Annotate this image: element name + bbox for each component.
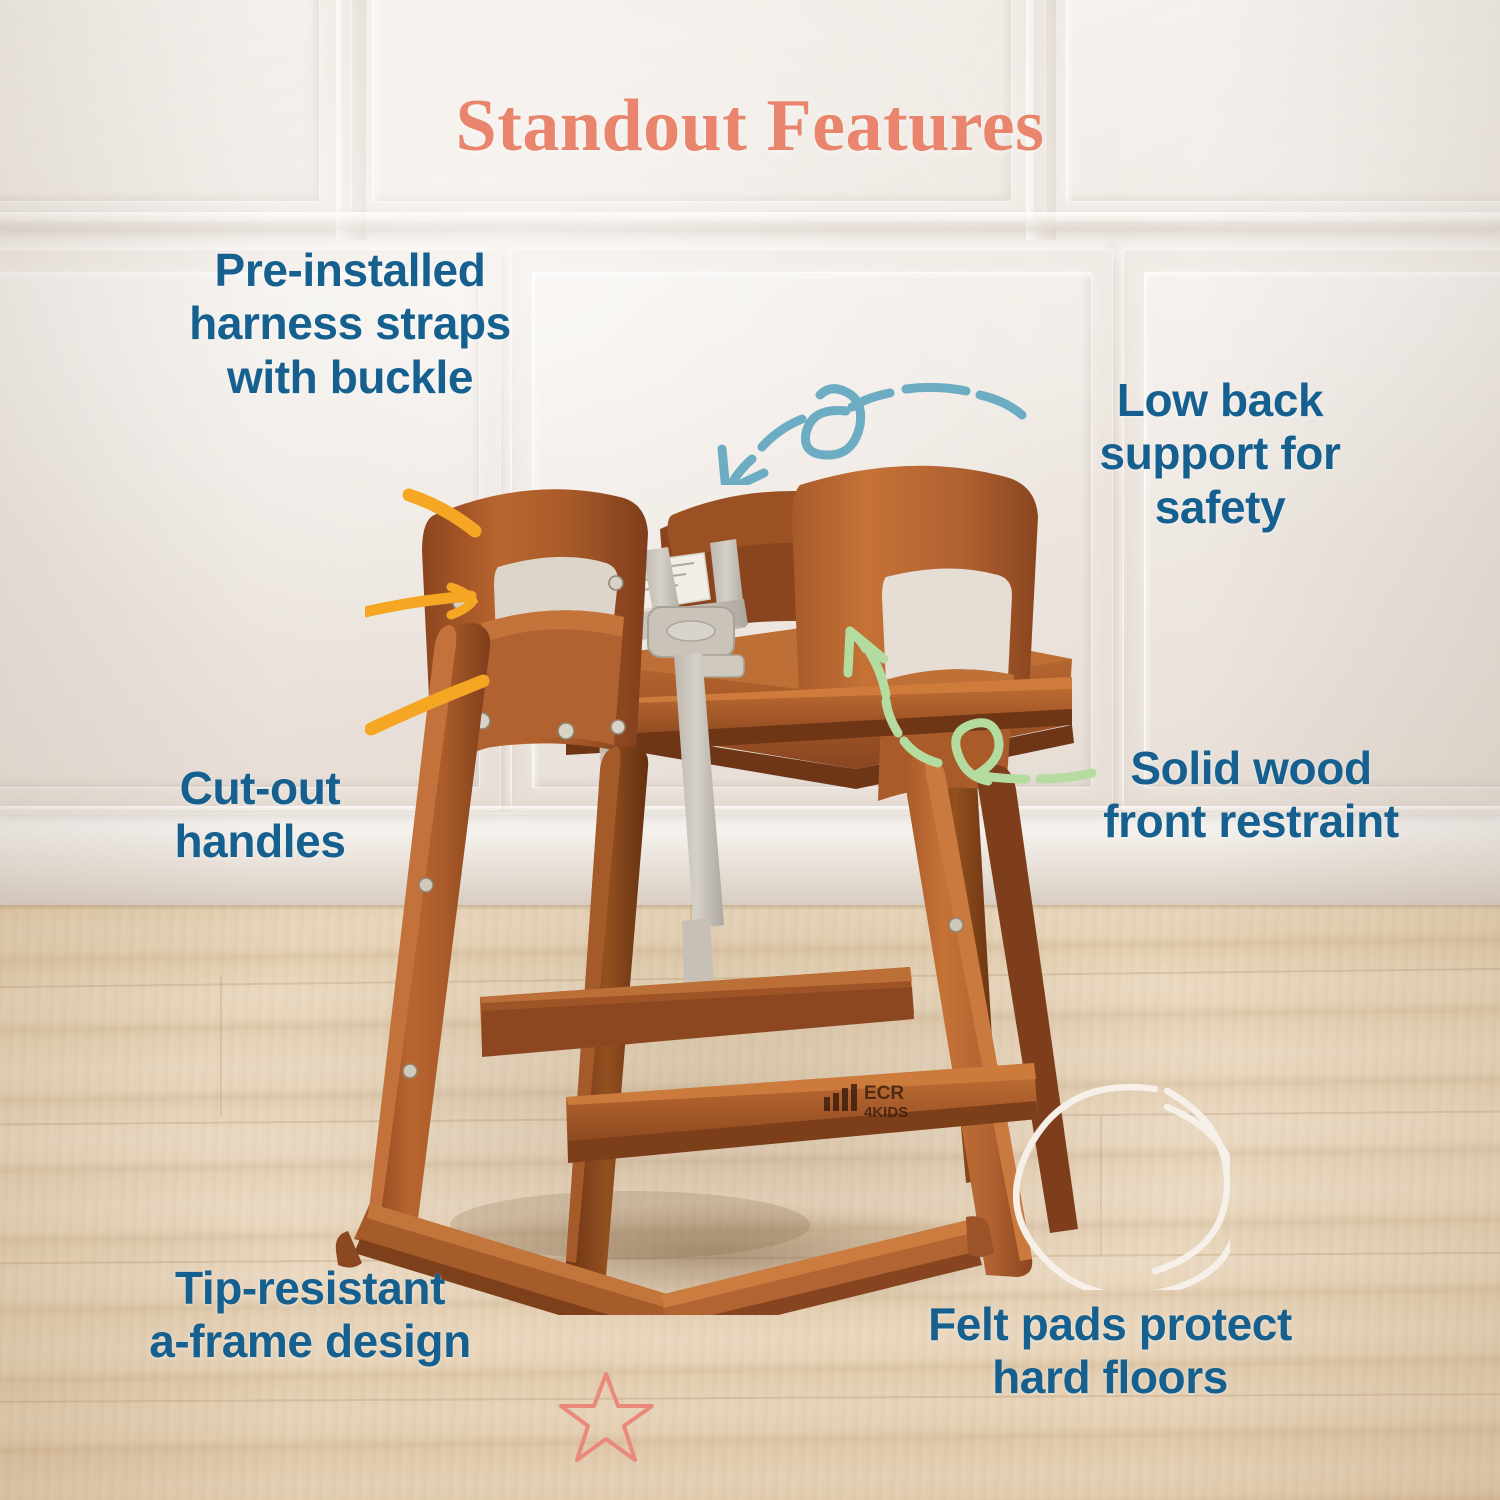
svg-text:ECR: ECR — [864, 1083, 904, 1104]
blue-dashed-arrow-icon — [690, 355, 1040, 485]
callout-cut-out-handles: Cut-outhandles — [100, 762, 420, 869]
yellow-stroke-arrows-icon — [365, 465, 525, 755]
page-title: Standout Features — [0, 84, 1500, 169]
white-circle-highlight-icon — [995, 1075, 1230, 1290]
coral-star-icon — [558, 1368, 654, 1464]
callout-low-back-support: Low backsupport forsafety — [1020, 374, 1420, 534]
callout-felt-pads: Felt pads protecthard floors — [840, 1298, 1380, 1405]
infographic-canvas: ECR 4KIDS — [0, 0, 1500, 1500]
callout-front-restraint: Solid woodfront restraint — [1036, 742, 1466, 849]
svg-text:4KIDS: 4KIDS — [864, 1104, 908, 1121]
callout-harness-straps: Pre-installedharness strapswith buckle — [110, 244, 590, 404]
callout-a-frame-design: Tip-resistanta-frame design — [60, 1262, 560, 1369]
